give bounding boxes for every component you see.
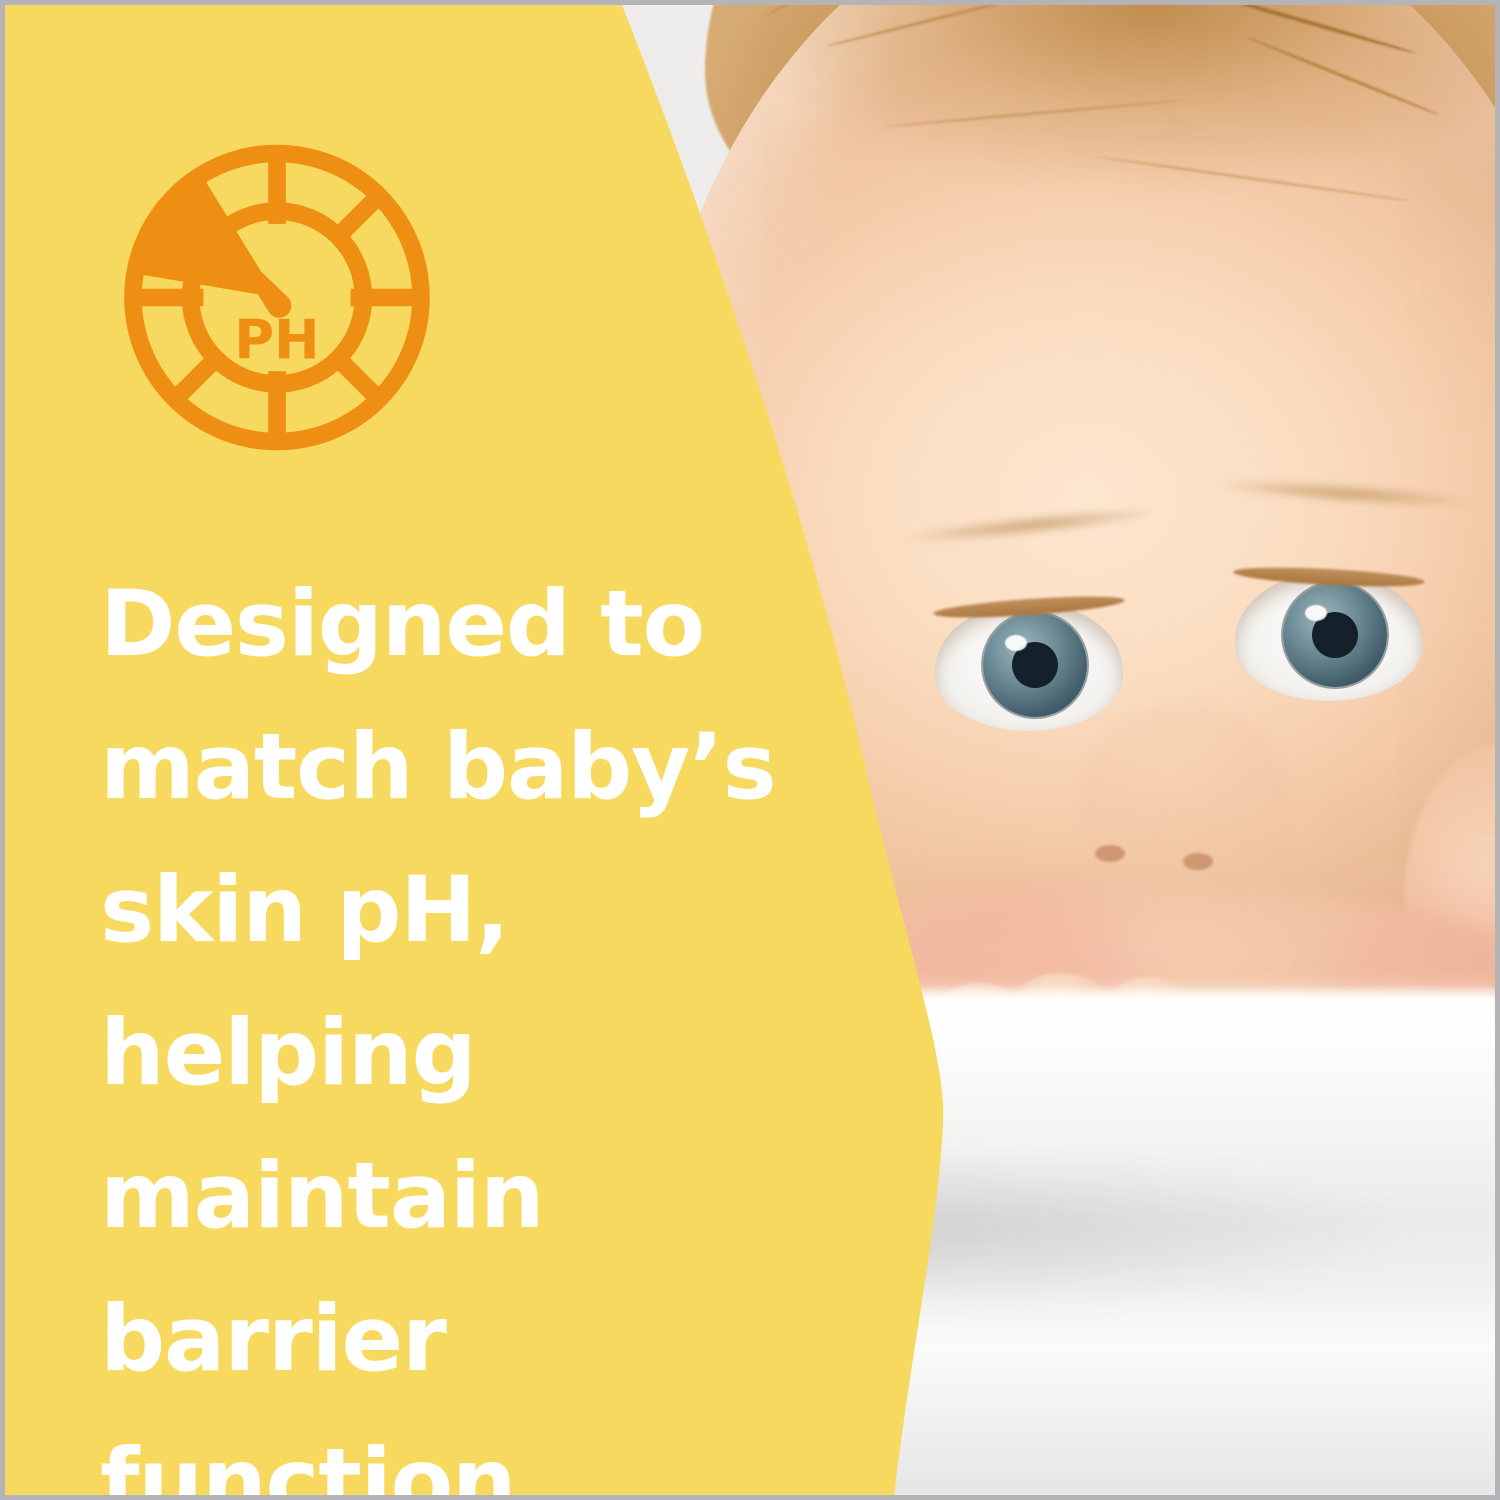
eye-glint-left bbox=[1005, 635, 1027, 651]
gauge-ph-label: PH bbox=[234, 308, 319, 371]
hair-soft-edge bbox=[705, 5, 1495, 305]
eye-glint-right bbox=[1305, 605, 1327, 621]
nostril-right bbox=[1183, 853, 1213, 870]
ph-gauge-icon: PH bbox=[117, 135, 437, 460]
nostril-left bbox=[1095, 845, 1125, 862]
promo-image-canvas: PH Designed to match baby’s skin pH, hel… bbox=[0, 0, 1500, 1500]
headline-text: Designed to match baby’s skin pH, helpin… bbox=[100, 553, 900, 1500]
gauge-group: PH bbox=[120, 154, 421, 442]
